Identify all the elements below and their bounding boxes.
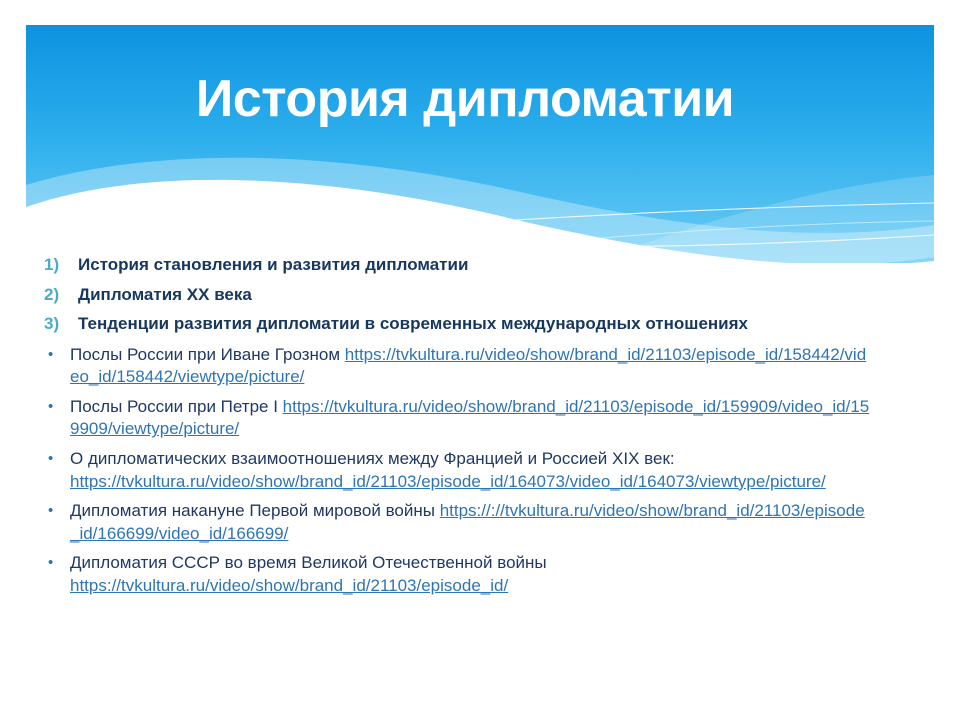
- bullet-label: Дипломатия накануне Первой мировой войны: [70, 501, 440, 520]
- list-number: 3): [44, 311, 78, 337]
- numbered-list-item: 2) Дипломатия XX века: [44, 282, 944, 308]
- bullet-list-item: • Послы России при Петре I https://tvkul…: [44, 396, 944, 441]
- bullet-content: Дипломатия СССР во время Великой Отечест…: [70, 552, 870, 597]
- bullet-dot-icon: •: [44, 500, 70, 522]
- page-title: История дипломатии: [26, 70, 934, 130]
- bullet-list-item: • О дипломатических взаимоотношениях меж…: [44, 448, 944, 493]
- video-link[interactable]: https://tvkultura.ru/video/show/brand_id…: [70, 472, 826, 491]
- bullet-label: Послы России при Иване Грозном: [70, 345, 345, 364]
- list-number: 2): [44, 282, 78, 308]
- bullet-list-item: • Дипломатия накануне Первой мировой вой…: [44, 500, 944, 545]
- numbered-list-item: 3) Тенденции развития дипломатии в совре…: [44, 311, 944, 337]
- bullet-content: Послы России при Иване Грозном https://t…: [70, 344, 870, 389]
- bullet-label: О дипломатических взаимоотношениях между…: [70, 449, 675, 468]
- bullet-label: Дипломатия СССР во время Великой Отечест…: [70, 553, 547, 572]
- bullet-dot-icon: •: [44, 396, 70, 418]
- bullet-list-item: • Дипломатия СССР во время Великой Отече…: [44, 552, 944, 597]
- bullet-label: Послы России при Петре I: [70, 397, 283, 416]
- bullet-content: О дипломатических взаимоотношениях между…: [70, 448, 870, 493]
- bullet-dot-icon: •: [44, 552, 70, 574]
- bullet-dot-icon: •: [44, 448, 70, 470]
- slide-header-banner: [26, 25, 934, 263]
- list-number: 1): [44, 252, 78, 278]
- bullet-content: Послы России при Петре I https://tvkultu…: [70, 396, 870, 441]
- bullet-list-item: • Послы России при Иване Грозном https:/…: [44, 344, 944, 389]
- video-link[interactable]: https://tvkultura.ru/video/show/brand_id…: [70, 576, 508, 595]
- list-item-label: Тенденции развития дипломатии в современ…: [78, 311, 944, 337]
- list-item-label: Дипломатия XX века: [78, 282, 944, 308]
- banner-graphic: [26, 25, 934, 263]
- bullet-dot-icon: •: [44, 344, 70, 366]
- list-item-label: История становления и развития дипломати…: [78, 252, 944, 278]
- bullet-content: Дипломатия накануне Первой мировой войны…: [70, 500, 870, 545]
- slide-content: 1) История становления и развития диплом…: [44, 252, 944, 598]
- numbered-list-item: 1) История становления и развития диплом…: [44, 252, 944, 278]
